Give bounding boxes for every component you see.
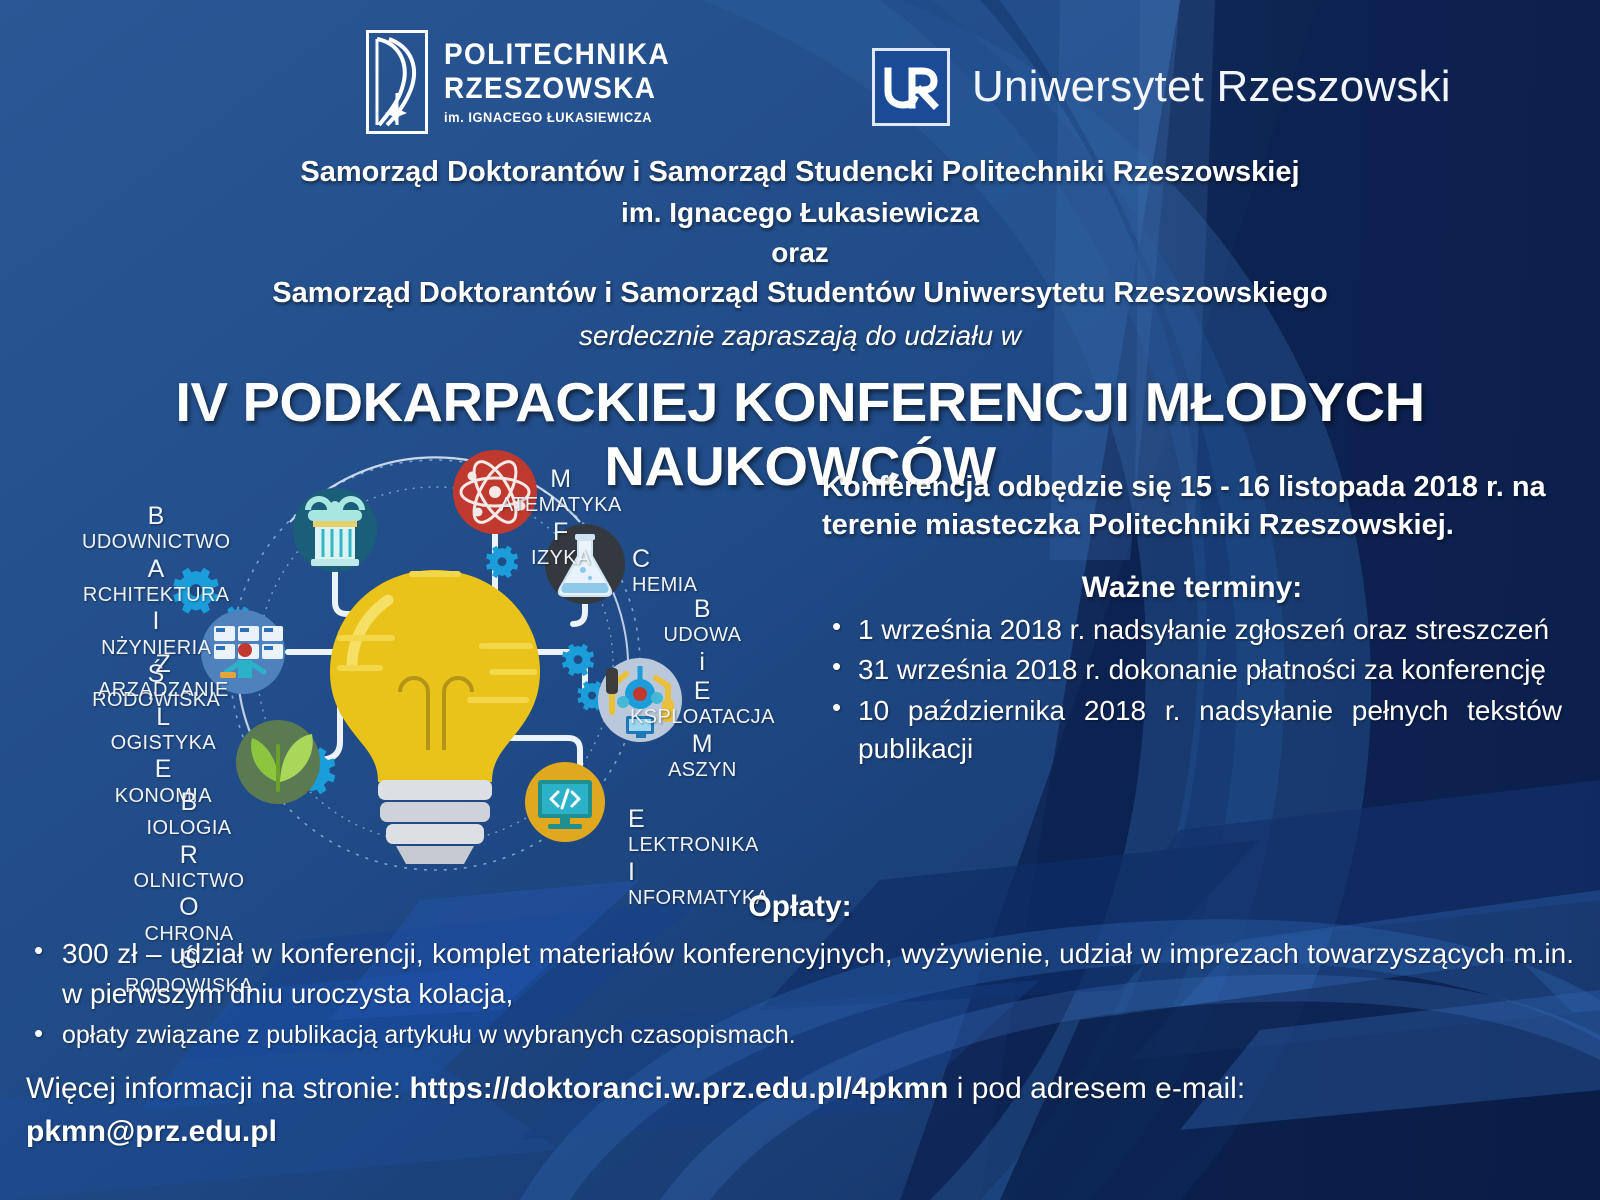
topic-label-zarzadzanie-line1: ZARZĄDZANIE <box>98 650 229 703</box>
fee-item: 300 zł – udział w konferencji, komplet m… <box>26 934 1574 1015</box>
topic-label-budownictwo-line1: BUDOWNICTWO <box>82 502 230 555</box>
deadlines-list: 1 września 2018 r. nadsyłanie zgłoszeń o… <box>822 611 1562 770</box>
fees-heading: Opłaty: <box>26 890 1574 924</box>
topic-label-matematyka-line2: FIZYKA <box>500 518 622 571</box>
topic-label-matematyka: MATEMATYKA FIZYKA <box>500 465 622 570</box>
conference-email-link[interactable]: pkmn@prz.edu.pl <box>26 1115 277 1148</box>
topic-label-maszyny: BUDOWA i EKSPLOATACJA MASZYN <box>630 595 775 782</box>
conference-details: Konferencja odbędzie się 15 - 16 listopa… <box>822 468 1562 771</box>
fees-section: Opłaty: 300 zł – udział w konferencji, k… <box>26 890 1574 1053</box>
topics-infographic: BUDOWNICTWO ARCHITEKTURA INŻYNIERIA ŚROD… <box>40 450 830 880</box>
deadline-item: 31 września 2018 r. dokonanie płatności … <box>822 651 1562 690</box>
organiser-line-2: im. Ignacego Łukasiewicza <box>0 193 1600 233</box>
uniwersytet-rzeszowski-logo: Uniwersytet Rzeszowski <box>872 48 1451 126</box>
deadline-item: 1 września 2018 r. nadsyłanie zgłoszeń o… <box>822 611 1562 650</box>
prz-emblem-icon <box>366 30 428 134</box>
fee-item: opłaty związane z publikacją artykułu w … <box>26 1017 1574 1053</box>
topic-label-zarzadzanie: ZARZĄDZANIE LOGISTYKA EKONOMIA <box>98 650 229 808</box>
topic-label-chemia-line1: CHEMIA <box>632 545 697 598</box>
deadline-item: 10 października 2018 r. nadsyłanie pełny… <box>822 692 1562 769</box>
topic-label-matematyka-line1: MATEMATYKA <box>500 465 622 518</box>
topic-label-maszyny-line1: BUDOWA i <box>630 595 775 677</box>
deadlines-heading: Ważne terminy: <box>822 571 1562 605</box>
prz-line2: RZESZOWSKA <box>444 74 670 104</box>
conference-date-line1: Konferencja odbędzie się 15 - 16 listopa… <box>822 468 1562 506</box>
organiser-line-4: Samorząd Doktorantów i Samorząd Studentó… <box>0 273 1600 314</box>
fees-list: 300 zł – udział w konferencji, komplet m… <box>26 934 1574 1053</box>
organiser-line-3: oraz <box>0 233 1600 273</box>
prz-line3: im. IGNACEGO ŁUKASIEWICZA <box>444 111 675 125</box>
contact-section: Więcej informacji na stronie: https://do… <box>26 1068 1574 1153</box>
topic-label-biologia-line2: ROLNICTWO <box>125 841 253 894</box>
ur-emblem-icon <box>872 48 950 126</box>
prz-line1: POLITECHNIKA <box>444 40 670 70</box>
topic-label-maszyny-line3: MASZYN <box>630 730 775 783</box>
code-monitor-icon <box>525 762 605 842</box>
conference-date-location: Konferencja odbędzie się 15 - 16 listopa… <box>822 468 1562 545</box>
ur-wordmark: Uniwersytet Rzeszowski <box>972 62 1451 112</box>
conference-date-line2: terenie miasteczka Politechniki Rzeszows… <box>822 506 1562 544</box>
politechnika-rzeszowska-logo: POLITECHNIKA RZESZOWSKA im. IGNACEGO ŁUK… <box>366 30 687 134</box>
invitation-line: serdecznie zapraszają do udziału w <box>0 320 1600 352</box>
topic-label-budownictwo-line2: ARCHITEKTURA <box>82 555 230 608</box>
contact-prefix: Więcej informacji na stronie: <box>26 1072 409 1105</box>
conference-poster: POLITECHNIKA RZESZOWSKA im. IGNACEGO ŁUK… <box>0 0 1600 1200</box>
logo-bar: POLITECHNIKA RZESZOWSKA im. IGNACEGO ŁUK… <box>0 12 1600 142</box>
topic-label-chemia: CHEMIA <box>632 545 697 598</box>
greek-column-icon <box>293 488 377 572</box>
lightbulb-icon <box>330 570 540 864</box>
prz-wordmark: POLITECHNIKA RZESZOWSKA im. IGNACEGO ŁUK… <box>444 40 687 125</box>
contact-middle: i pod adresem e-mail: <box>948 1072 1245 1105</box>
organisers-header: Samorząd Doktorantów i Samorząd Studenck… <box>0 152 1600 352</box>
topic-label-biologia-line1: BIOLOGIA <box>125 788 253 841</box>
organiser-line-1: Samorząd Doktorantów i Samorząd Studenck… <box>0 152 1600 193</box>
topic-label-elektronika-line1: ELEKTRONIKA <box>628 805 769 858</box>
conference-website-link[interactable]: https://doktoranci.w.prz.edu.pl/4pkmn <box>409 1072 948 1105</box>
topic-label-zarzadzanie-line2: LOGISTYKA <box>98 703 229 756</box>
topic-label-maszyny-line2: EKSPLOATACJA <box>630 677 775 730</box>
